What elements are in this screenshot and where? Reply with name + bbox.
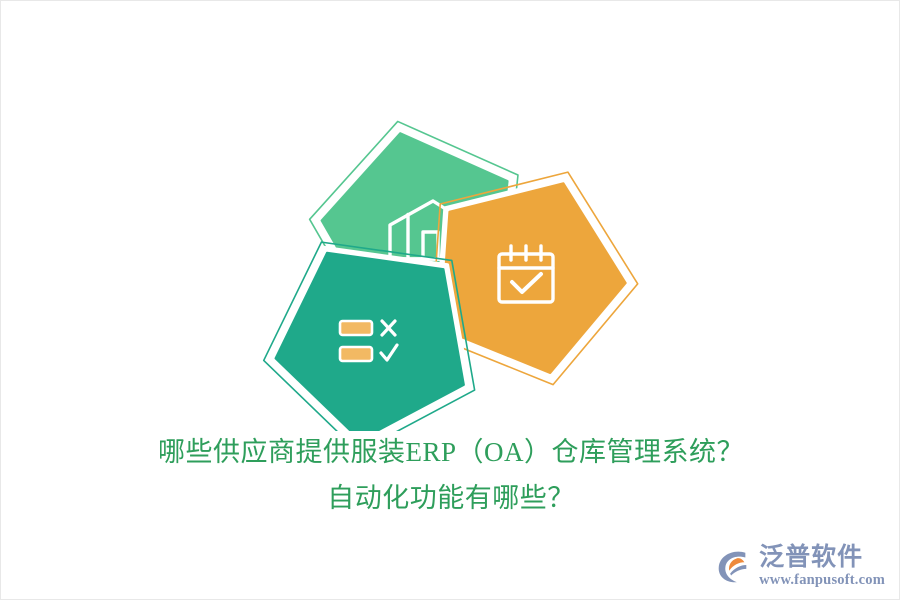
brand-name-cn: 泛普软件: [759, 545, 863, 570]
poster-canvas: 哪些供应商提供服装ERP（OA）仓库管理系统？ 自动化功能有哪些？ 泛普软件 w…: [0, 0, 900, 600]
brand-wordmark: 泛普软件 www.fanpusoft.com: [759, 545, 885, 588]
fanpu-logo-icon: [714, 547, 752, 585]
three-pentagon-illustration: [1, 1, 900, 431]
brand-url: www.fanpusoft.com: [759, 573, 885, 588]
brand-watermark: 泛普软件 www.fanpusoft.com: [714, 545, 885, 588]
page-title-line-2: 自动化功能有哪些？: [1, 475, 900, 521]
page-title-line-1: 哪些供应商提供服装ERP（OA）仓库管理系统？: [1, 429, 900, 475]
checklist-bar-2: [340, 347, 372, 361]
checklist-bar-1: [340, 321, 372, 335]
page-title: 哪些供应商提供服装ERP（OA）仓库管理系统？ 自动化功能有哪些？: [1, 429, 900, 521]
